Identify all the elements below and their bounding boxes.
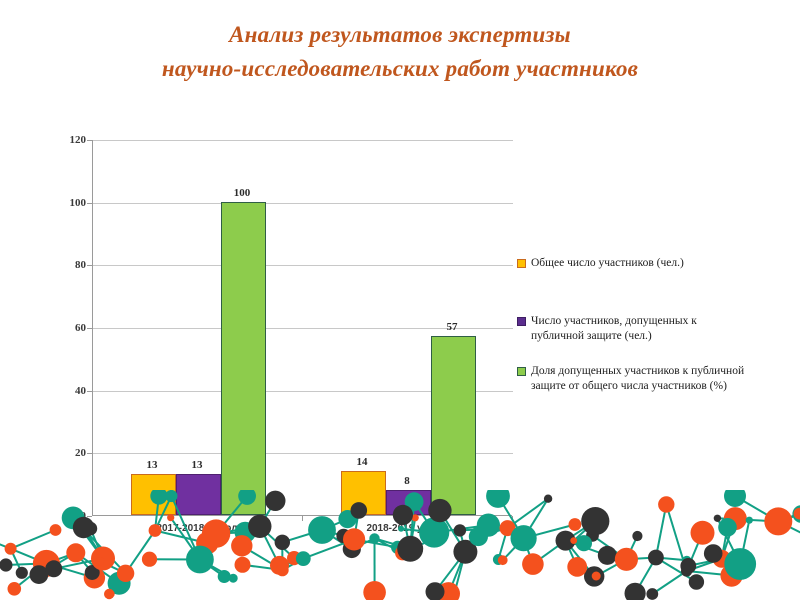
legend-swatch-icon <box>517 317 526 326</box>
y-axis-tick-label: 80 <box>46 259 86 271</box>
legend-label: Доля допущенных участников к публичной з… <box>531 364 746 394</box>
y-axis-tick-mark <box>87 328 92 329</box>
y-axis-tick-mark <box>87 516 92 517</box>
x-axis-category-label: 2018-2019 уч.год <box>302 523 512 534</box>
bar-0-0[interactable] <box>131 474 176 515</box>
legend-item-1[interactable]: Число участников, допущенных к публичной… <box>517 314 746 344</box>
bar-value-label: 14 <box>340 456 385 468</box>
y-axis-tick-label: 0 <box>46 510 86 522</box>
y-axis-tick-label: 40 <box>46 385 86 397</box>
bar-value-label: 100 <box>220 187 265 199</box>
gridline <box>93 140 513 141</box>
y-axis-tick-label: 100 <box>46 197 86 209</box>
bar-1-1[interactable] <box>386 490 431 515</box>
legend-item-2[interactable]: Доля допущенных участников к публичной з… <box>517 364 746 394</box>
y-axis-tick-label: 60 <box>46 322 86 334</box>
legend-swatch-icon <box>517 259 526 268</box>
x-axis-tick-mark <box>512 516 513 521</box>
gridline <box>93 265 513 266</box>
bar-0-1[interactable] <box>341 471 386 515</box>
x-axis-category-label: 2017-2018 уч.год <box>92 523 302 534</box>
bar-2-0[interactable] <box>221 202 266 515</box>
bar-value-label: 13 <box>175 459 220 471</box>
y-axis-tick-mark <box>87 140 92 141</box>
bar-2-1[interactable] <box>431 336 476 515</box>
x-axis-tick-mark <box>302 516 303 521</box>
y-axis-tick-label: 20 <box>46 447 86 459</box>
y-axis-tick-mark <box>87 265 92 266</box>
y-axis-tick-mark <box>87 391 92 392</box>
legend-label: Число участников, допущенных к публичной… <box>531 314 746 344</box>
bar-value-label: 8 <box>385 475 430 487</box>
y-axis-tick-mark <box>87 203 92 204</box>
y-axis-tick-mark <box>87 453 92 454</box>
legend-item-0[interactable]: Общее число участников (чел.) <box>517 256 684 271</box>
bar-value-label: 13 <box>130 459 175 471</box>
gridline <box>93 203 513 204</box>
legend-swatch-icon <box>517 367 526 376</box>
bar-chart: Общее число участников (чел.)Число участ… <box>0 0 800 600</box>
bar-1-0[interactable] <box>176 474 221 515</box>
legend-label: Общее число участников (чел.) <box>531 256 684 271</box>
bar-value-label: 57 <box>430 321 475 333</box>
y-axis-tick-label: 120 <box>46 134 86 146</box>
